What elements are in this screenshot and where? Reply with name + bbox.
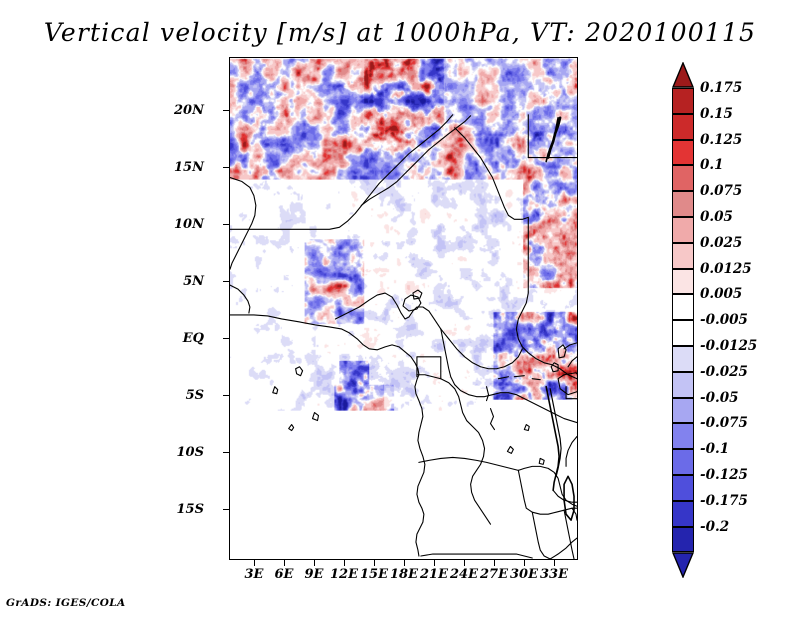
colorbar-segment [672,423,694,449]
colorbar-segment [672,294,694,320]
colorbar-segment [672,449,694,475]
colorbar-segment [672,372,694,398]
x-axis-tick [314,560,315,566]
colorbar-label: -0.05 [700,390,738,406]
x-axis-tick [374,560,375,566]
x-axis-tick [554,560,555,566]
y-axis-tick [223,167,229,168]
y-axis-tick [223,395,229,396]
y-axis-label-15N: 15N [174,160,204,175]
colorbar-label: -0.1 [700,441,729,457]
y-axis-tick [223,281,229,282]
vertical-velocity-field [230,58,577,559]
y-axis-tick [223,452,229,453]
colorbar-segment [672,191,694,217]
y-axis-tick [223,338,229,339]
colorbar-segment [672,346,694,372]
colorbar-label: -0.2 [700,519,729,535]
y-axis-tick [223,224,229,225]
page-title: Vertical velocity [m/s] at 1000hPa, VT: … [0,18,800,47]
colorbar-label: 0.175 [700,80,742,96]
colorbar-label: -0.025 [700,364,748,380]
grads-credit: GrADS: IGES/COLA [6,597,126,609]
colorbar-segment [672,114,694,140]
colorbar-label: 0.15 [700,106,733,122]
colorbar-arrow-bottom [672,552,694,578]
x-axis-tick [254,560,255,566]
map-plot-area [229,57,578,560]
colorbar-label: 0.05 [700,209,733,225]
colorbar-label: -0.125 [700,467,748,483]
colorbar-segment [672,88,694,114]
x-axis-tick [494,560,495,566]
y-axis-label-10N: 10N [174,217,204,232]
y-axis-label-5N: 5N [183,274,204,289]
x-axis-tick [524,560,525,566]
colorbar-label: -0.175 [700,493,748,509]
y-axis-label-EQ: EQ [183,331,204,346]
y-axis-label-20N: 20N [174,103,204,118]
colorbar-segment [672,527,694,553]
colorbar-label: 0.125 [700,132,742,148]
colorbar-segment [672,398,694,424]
colorbar-segment [672,243,694,269]
colorbar-label: 0.005 [700,286,742,302]
colorbar-label: 0.075 [700,183,742,199]
colorbar-label: -0.0125 [700,338,757,354]
colorbar-label: 0.025 [700,235,742,251]
colorbar-label: -0.075 [700,415,748,431]
x-axis-tick [284,560,285,566]
colorbar-arrow-top [672,62,694,88]
colorbar-label: -0.005 [700,312,748,328]
y-axis-tick [223,110,229,111]
colorbar-segment [672,475,694,501]
colorbar-segment [672,165,694,191]
colorbar-segment [672,501,694,527]
colorbar-segment [672,217,694,243]
y-axis-label-15S: 15S [177,502,204,517]
colorbar-segment [672,269,694,295]
x-axis-tick [404,560,405,566]
colorbar-segment [672,140,694,166]
y-axis-label-5S: 5S [186,388,204,403]
y-axis-label-10S: 10S [177,445,204,460]
colorbar-label: 0.1 [700,157,724,173]
x-axis-label-33E: 33E [534,567,574,582]
colorbar-segment [672,320,694,346]
colorbar-label: 0.0125 [700,261,752,277]
x-axis-tick [464,560,465,566]
colorbar: 0.1750.150.1250.10.0750.050.0250.01250.0… [672,62,792,562]
x-axis-tick [344,560,345,566]
x-axis-tick [434,560,435,566]
y-axis-tick [223,509,229,510]
